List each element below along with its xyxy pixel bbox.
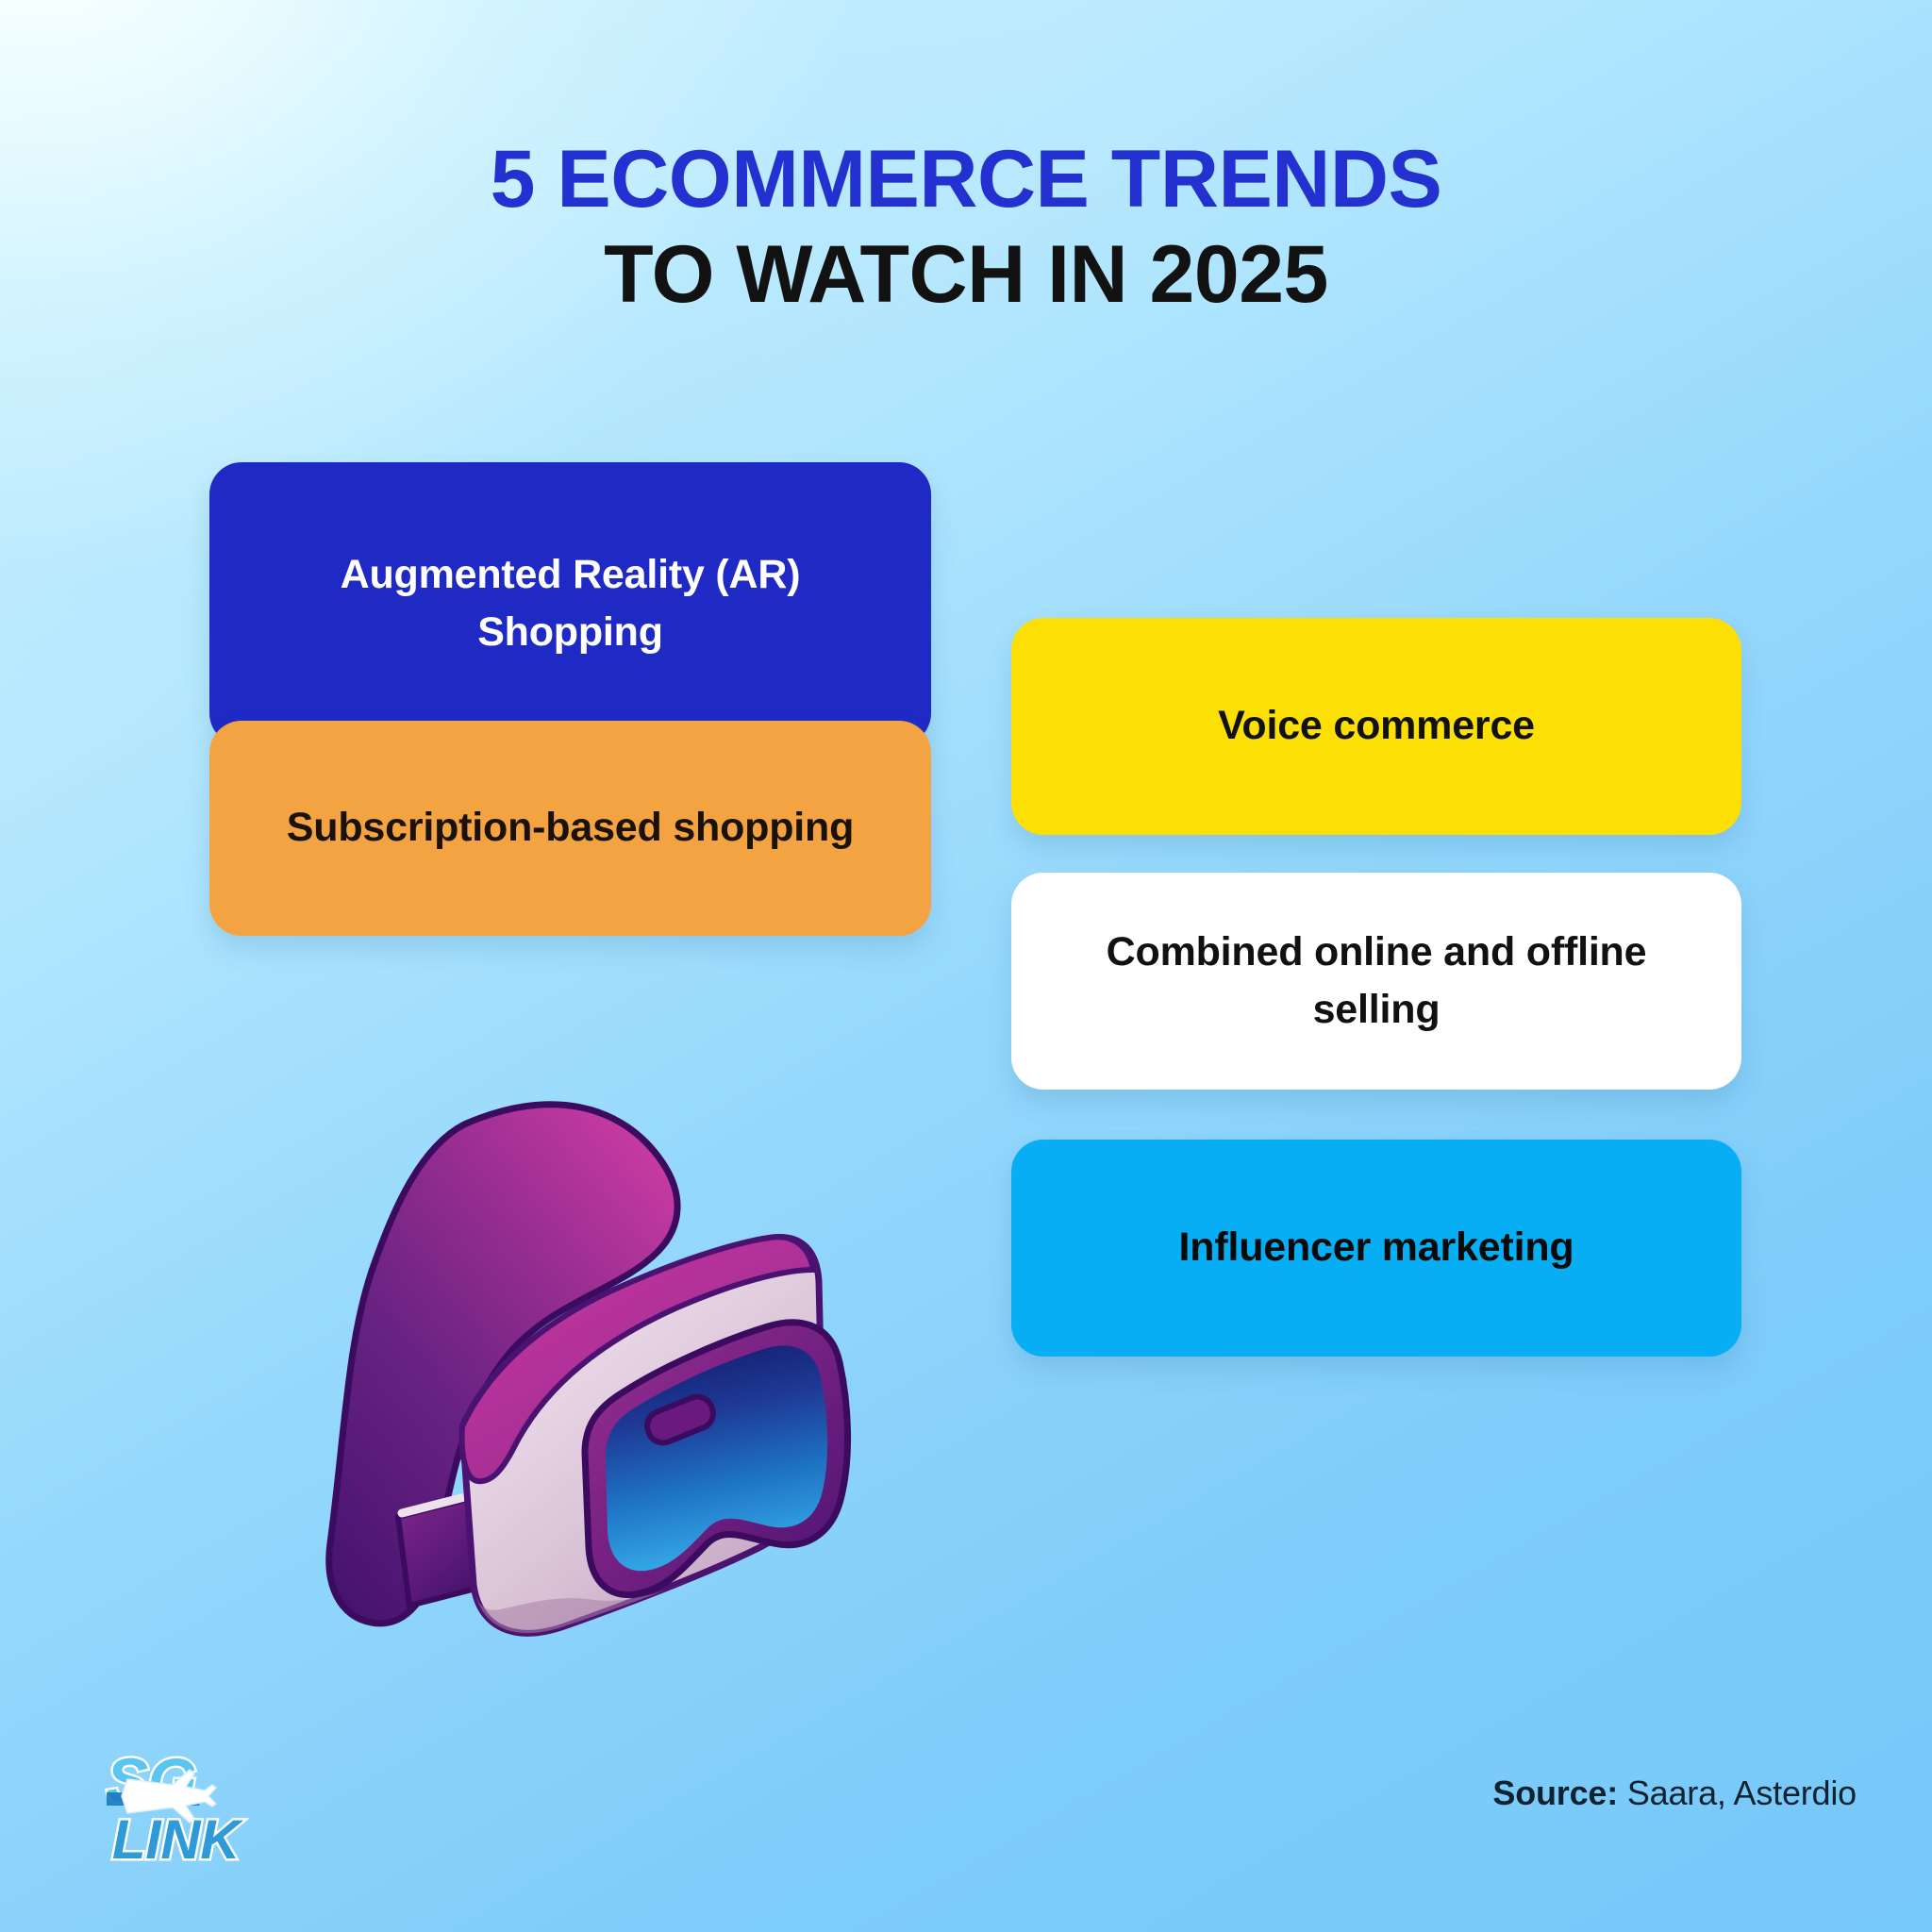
title-line-1: 5 ECOMMERCE TRENDS	[0, 132, 1932, 227]
trend-card-augmented-reality[interactable]: Augmented Reality (AR) Shopping	[209, 462, 931, 745]
page-title: 5 ECOMMERCE TRENDS TO WATCH IN 2025	[0, 132, 1932, 324]
source-label: Source:	[1492, 1774, 1618, 1812]
logo-text-link: LINK LINK	[112, 1809, 243, 1871]
trend-card-label: Voice commerce	[1218, 697, 1535, 755]
trend-card-label: Influencer marketing	[1179, 1219, 1574, 1276]
trend-card-label: Augmented Reality (AR) Shopping	[247, 546, 893, 661]
svg-text:LINK: LINK	[112, 1809, 243, 1871]
source-credit: Source: Saara, Asterdio	[1492, 1774, 1857, 1813]
source-value: Saara, Asterdio	[1627, 1774, 1857, 1812]
trend-card-label: Combined online and offline selling	[1049, 924, 1704, 1039]
trend-card-combined-selling[interactable]: Combined online and offline selling	[1011, 873, 1741, 1090]
vr-headset-illustration	[179, 1075, 934, 1660]
infographic-poster: 5 ECOMMERCE TRENDS TO WATCH IN 2025 Augm…	[0, 0, 1932, 1932]
trend-card-voice-commerce[interactable]: Voice commerce	[1011, 618, 1741, 835]
trend-card-label: Subscription-based shopping	[287, 799, 854, 857]
sg-link-logo[interactable]: SG SG LINK LINK	[99, 1743, 278, 1875]
trend-card-subscription[interactable]: Subscription-based shopping	[209, 721, 931, 936]
title-line-2: TO WATCH IN 2025	[0, 227, 1932, 323]
trend-card-influencer-marketing[interactable]: Influencer marketing	[1011, 1140, 1741, 1357]
